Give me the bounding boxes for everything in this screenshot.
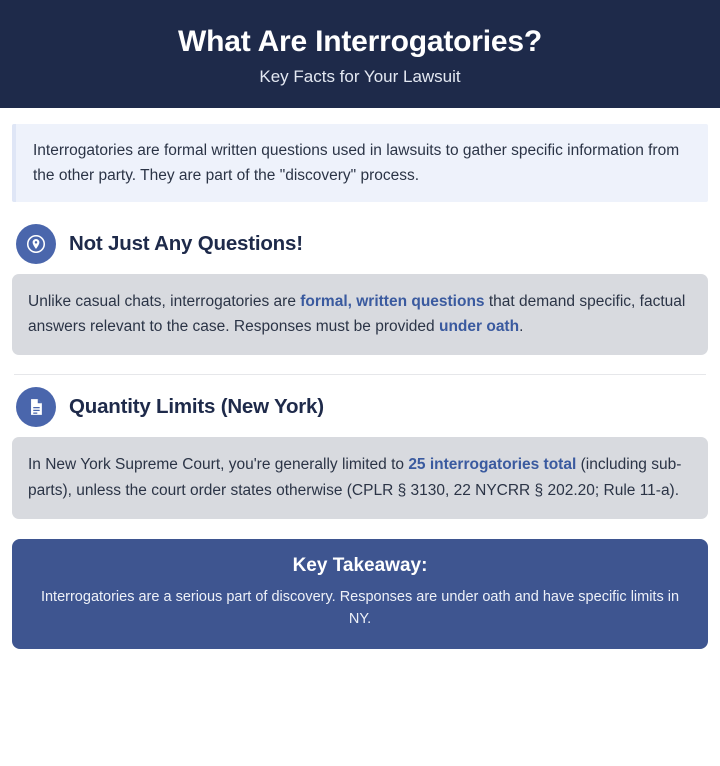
document-icon [16,387,56,427]
page-subtitle: Key Facts for Your Lawsuit [259,67,460,87]
section-header: Quantity Limits (New York) [12,381,708,437]
body-run-highlight: under oath [439,318,519,335]
section-body-panel: In New York Supreme Court, you're genera… [12,437,708,518]
location-pin-icon [16,224,56,264]
key-takeaway-box: Key Takeaway: Interrogatories are a seri… [12,539,708,649]
intro-callout: Interrogatories are formal written quest… [12,124,708,202]
key-takeaway-title: Key Takeaway: [34,555,686,578]
section-title: Quantity Limits (New York) [69,395,324,420]
page-title: What Are Interrogatories? [178,25,542,60]
key-takeaway-text: Interrogatories are a serious part of di… [34,587,686,631]
section-title: Not Just Any Questions! [69,232,303,257]
section-quantity-limits: Quantity Limits (New York) In New York S… [12,381,708,518]
section-body-text: In New York Supreme Court, you're genera… [28,452,692,502]
section-body-panel: Unlike casual chats, interrogatories are… [12,274,708,355]
body-run: Unlike casual chats, interrogatories are [28,293,300,310]
page-header: What Are Interrogatories? Key Facts for … [0,0,720,108]
body-run: In New York Supreme Court, you're genera… [28,456,408,473]
intro-text: Interrogatories are formal written quest… [33,138,692,188]
section-body-text: Unlike casual chats, interrogatories are… [28,289,692,339]
infographic-page: What Are Interrogatories? Key Facts for … [0,0,720,766]
body-run-highlight: 25 interrogatories total [408,456,576,473]
content-area: Interrogatories are formal written quest… [0,108,720,766]
section-header: Not Just Any Questions! [12,218,708,274]
body-run-highlight: formal, written questions [300,293,484,310]
section-divider [14,374,706,375]
section-not-just-any-questions: Not Just Any Questions! Unlike casual ch… [12,218,708,355]
body-run: . [519,318,523,335]
